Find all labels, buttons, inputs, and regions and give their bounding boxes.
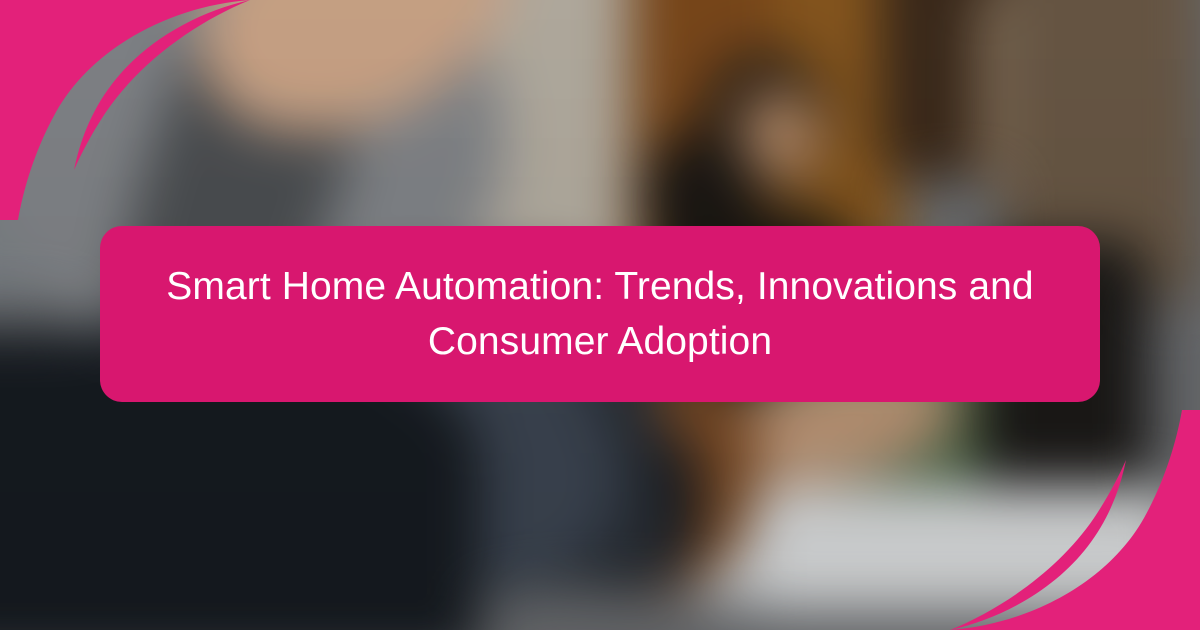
banner-canvas: Smart Home Automation: Trends, Innovatio… <box>0 0 1200 630</box>
page-title: Smart Home Automation: Trends, Innovatio… <box>120 259 1080 370</box>
title-card: Smart Home Automation: Trends, Innovatio… <box>100 226 1100 402</box>
